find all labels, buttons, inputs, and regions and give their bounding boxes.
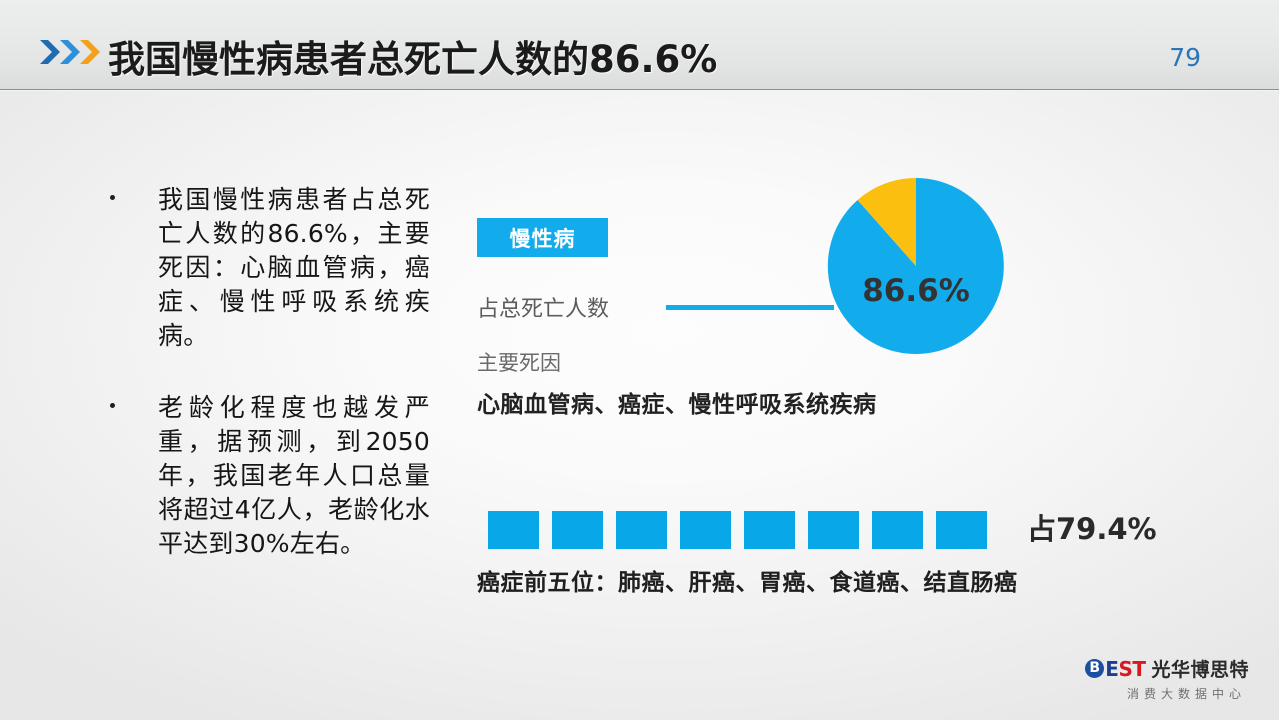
slide-canvas: 我国慢性病患者总死亡人数的86.6% 79 我国慢性病患者占总死亡人数的86.6… bbox=[0, 0, 1279, 720]
page-number: 79 bbox=[1169, 43, 1201, 72]
cancer-square-row bbox=[488, 511, 987, 549]
cancer-caption: 癌症前五位：肺癌、肝癌、胃癌、食道癌、结直肠癌 bbox=[477, 563, 1018, 597]
bullet-dot-icon bbox=[110, 403, 115, 408]
bullet-text: 我国慢性病患者占总死亡人数的86.6%，主要死因：心脑血管病，癌症、慢性呼吸系统… bbox=[158, 183, 430, 353]
list-item: 我国慢性病患者占总死亡人数的86.6%，主要死因：心脑血管病，癌症、慢性呼吸系统… bbox=[100, 183, 430, 353]
pie-center-value: 86.6% bbox=[826, 176, 1006, 356]
chronic-disease-badge-label: 慢性病 bbox=[510, 223, 576, 253]
brand-logo-row: B E ST 光华博思特 bbox=[1085, 655, 1249, 682]
header-divider bbox=[0, 89, 1279, 91]
list-item: 老龄化程度也越发严重，据预测，到2050年，我国老年人口总量将超过4亿人，老龄化… bbox=[100, 391, 430, 561]
cancer-square bbox=[488, 511, 539, 549]
logo-subtitle: 消费大数据中心 bbox=[1085, 685, 1249, 702]
bullet-dot-icon bbox=[110, 195, 115, 200]
cause-value: 心脑血管病、癌症、慢性呼吸系统疾病 bbox=[477, 385, 877, 419]
pie-center-value-text: 86.6% bbox=[862, 273, 970, 309]
cause-label: 主要死因 bbox=[477, 347, 561, 377]
brand-logo: B E ST 光华博思特 消费大数据中心 bbox=[1085, 655, 1249, 702]
cancer-square bbox=[616, 511, 667, 549]
cancer-square bbox=[872, 511, 923, 549]
chevron-decoration-icon bbox=[38, 36, 104, 68]
page-title: 我国慢性病患者总死亡人数的86.6% bbox=[108, 29, 717, 83]
bullet-text: 老龄化程度也越发严重，据预测，到2050年，我国老年人口总量将超过4亿人，老龄化… bbox=[158, 391, 430, 561]
pie-connector-line bbox=[666, 305, 834, 310]
logo-word-red: ST bbox=[1118, 657, 1145, 681]
logo-word-blue: E bbox=[1105, 657, 1118, 681]
pie-stat-label: 占总死亡人数 bbox=[477, 291, 609, 323]
cancer-square bbox=[744, 511, 795, 549]
cancer-square bbox=[936, 511, 987, 549]
logo-mark-icon: B bbox=[1085, 659, 1104, 678]
logo-word-cn: 光华博思特 bbox=[1151, 655, 1249, 682]
bullet-list: 我国慢性病患者占总死亡人数的86.6%，主要死因：心脑血管病，癌症、慢性呼吸系统… bbox=[100, 183, 430, 599]
cancer-square bbox=[552, 511, 603, 549]
pie-chart: 86.6% bbox=[826, 176, 1006, 356]
chronic-disease-badge: 慢性病 bbox=[477, 218, 608, 257]
cancer-square bbox=[680, 511, 731, 549]
cancer-percentage-value: 占79.4% bbox=[1027, 506, 1157, 548]
cancer-square bbox=[808, 511, 859, 549]
